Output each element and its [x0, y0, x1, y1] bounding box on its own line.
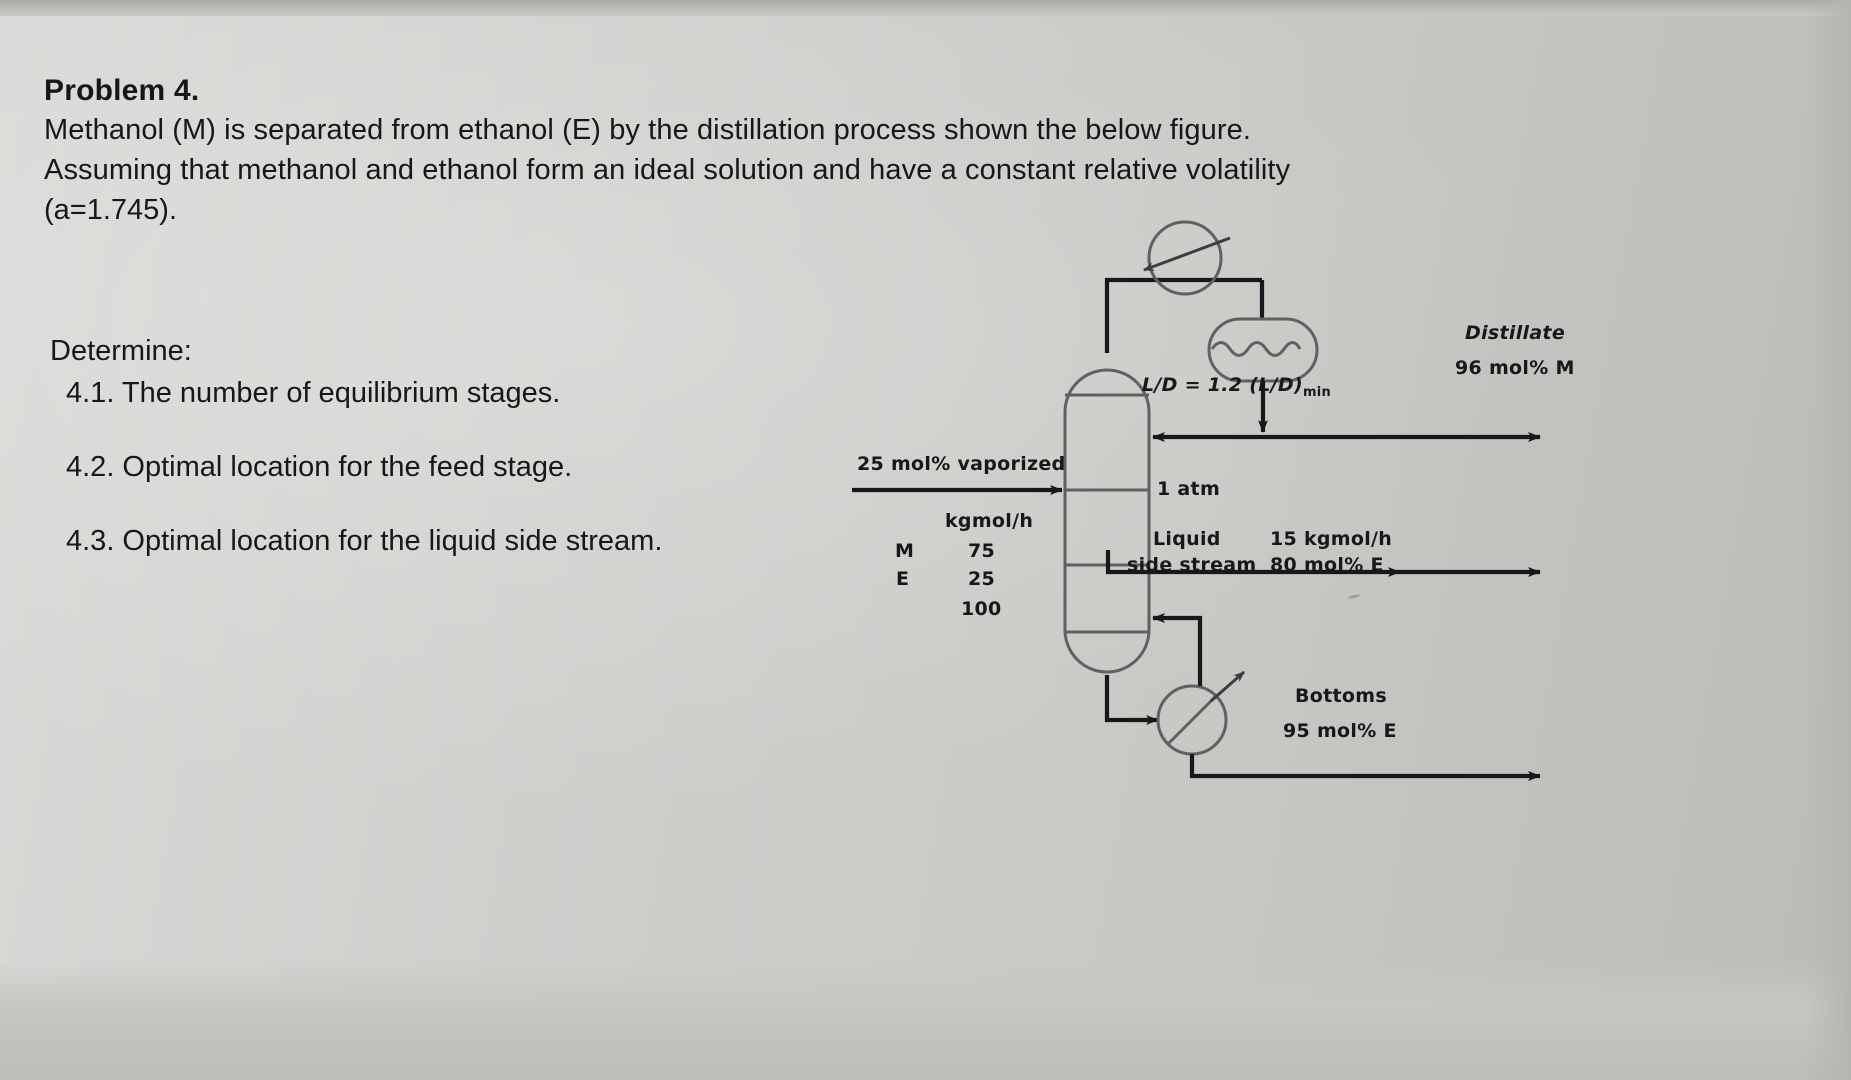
feed-component-flow-e: 25: [968, 568, 995, 590]
bottoms-product-line: [1192, 754, 1540, 776]
spacer: [50, 414, 950, 446]
bottoms-to-reboiler-line: [1107, 675, 1158, 720]
reboiler-vapor-return-line: [1153, 618, 1200, 686]
page-top-edge: [0, 0, 1851, 16]
paragraph-line-2: Assuming that methanol and ethanol form …: [44, 150, 1464, 190]
reflux-drum-icon: [1209, 319, 1317, 381]
reboiler-duty-arrow: [1211, 672, 1244, 701]
feed-component-symbol-e: E: [896, 568, 909, 590]
determine-heading: Determine:: [50, 330, 950, 372]
column-shell-icon: [1065, 370, 1149, 672]
determine-item-2: 4.2. Optimal location for the feed stage…: [50, 446, 950, 488]
page-title: Problem 4.: [44, 74, 1464, 108]
reboiler-slash: [1168, 696, 1216, 744]
reflux-ratio-label: L/D = 1.2 (L/D)min: [1142, 374, 1331, 400]
bottoms-purity-label: 95 mol% E: [1283, 720, 1397, 742]
feed-component-flow-m: 75: [968, 540, 995, 562]
feed-component-symbol-m: M: [895, 540, 914, 562]
condenser-icon: [1149, 222, 1221, 294]
distillate-label: Distillate: [1465, 322, 1565, 344]
feed-total-flow: 100: [961, 598, 1002, 620]
determine-item-3: 4.3. Optimal location for the liquid sid…: [50, 520, 950, 562]
spacer: [50, 488, 950, 520]
feed-condition-label: 25 mol% vaporized: [857, 453, 1065, 475]
determine-block: Determine: 4.1. The number of equilibriu…: [50, 330, 950, 562]
side-stream-purity-label: 80 mol% E: [1270, 554, 1384, 576]
scanned-problem-page: Problem 4. Methanol (M) is separated fro…: [0, 0, 1851, 1080]
side-stream-flow-label: 15 kgmol/h: [1270, 528, 1392, 550]
column-pressure-label: 1 atm: [1157, 478, 1220, 500]
reflux-drum-liquid-level: [1212, 343, 1300, 356]
paragraph-line-1: Methanol (M) is separated from ethanol (…: [44, 110, 1464, 150]
page-bottom-edge: [0, 960, 1851, 1080]
bottoms-label: Bottoms: [1295, 685, 1387, 707]
distillation-flowsheet: Distillate 96 mol% M L/D = 1.2 (L/D)min …: [840, 220, 1840, 800]
problem-statement-block: Problem 4. Methanol (M) is separated fro…: [44, 74, 1464, 230]
side-stream-label-line1: Liquid: [1153, 528, 1221, 550]
distillate-purity-label: 96 mol% M: [1455, 357, 1575, 379]
condenser-duty-arrow: [1144, 238, 1230, 270]
side-stream-label-line2: side stream: [1127, 554, 1257, 576]
determine-item-1: 4.1. The number of equilibrium stages.: [50, 372, 950, 414]
feed-units-header: kgmol/h: [945, 510, 1033, 532]
overhead-vapor-line: [1107, 280, 1262, 353]
